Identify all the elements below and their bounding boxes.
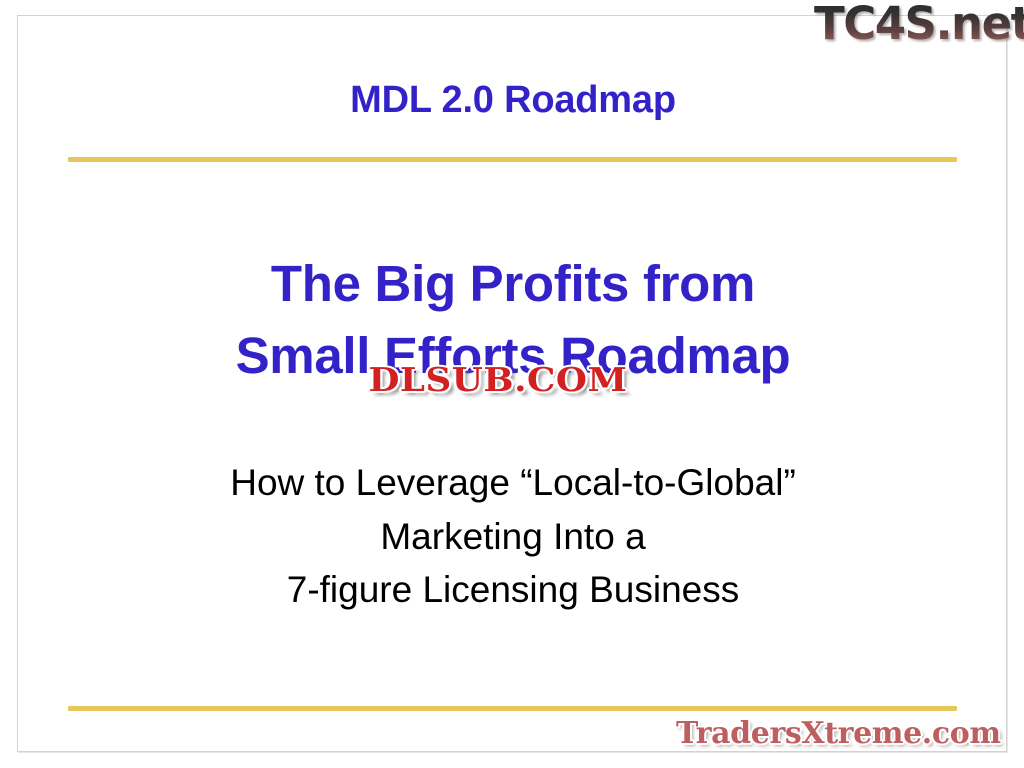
top-divider-rule — [68, 157, 957, 162]
watermark-dlsub: DLSUB.COM — [336, 360, 660, 399]
main-heading-line-1: The Big Profits from — [18, 248, 1008, 320]
body-copy-line-1: How to Leverage “Local-to-Global” — [18, 456, 1008, 510]
body-copy-line-2: Marketing Into a — [18, 510, 1008, 564]
body-copy: How to Leverage “Local-to-Global” Market… — [18, 456, 1008, 617]
bottom-divider-rule — [68, 706, 957, 711]
watermark-tc4s: TC4S.net — [814, 0, 1024, 50]
watermark-tradersxtreme: TradersXtreme.com — [676, 716, 1001, 751]
body-copy-line-3: 7-figure Licensing Business — [18, 563, 1008, 617]
page-title: MDL 2.0 Roadmap — [18, 79, 1008, 122]
